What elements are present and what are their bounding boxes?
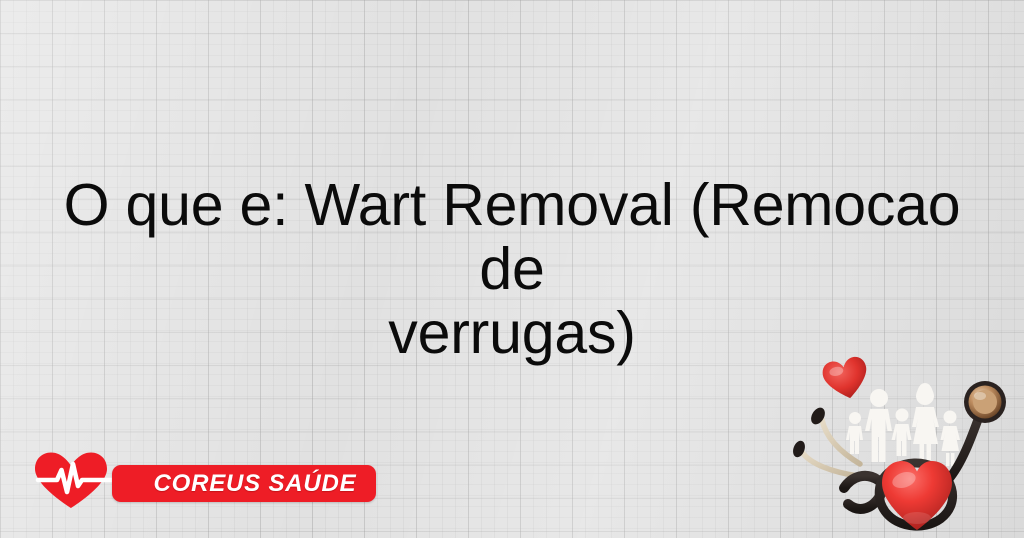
slide-canvas: O que e: Wart Removal (Remocao de verrug…: [0, 0, 1024, 538]
family-figure-child-middle: [892, 409, 912, 457]
brand-badge[interactable]: COREUS SAÚDE: [112, 465, 376, 502]
family-figure-father: [865, 389, 892, 462]
stethoscope-chestpiece: [964, 381, 1006, 423]
family-figure-child-right: [941, 411, 961, 467]
heart-pulse-icon: [30, 450, 112, 510]
health-family-stethoscope-illustration: [782, 352, 1024, 538]
brand-lockup[interactable]: COREUS SAÚDE: [30, 448, 350, 510]
page-title: O que e: Wart Removal (Remocao de verrug…: [30, 173, 994, 365]
small-heart-icon: [820, 355, 871, 403]
family-figure-mother: [912, 383, 939, 466]
family-silhouette-icon: [846, 383, 960, 466]
family-figure-child-left: [846, 412, 863, 454]
brand-name-label: COREUS SAÚDE: [112, 470, 376, 498]
